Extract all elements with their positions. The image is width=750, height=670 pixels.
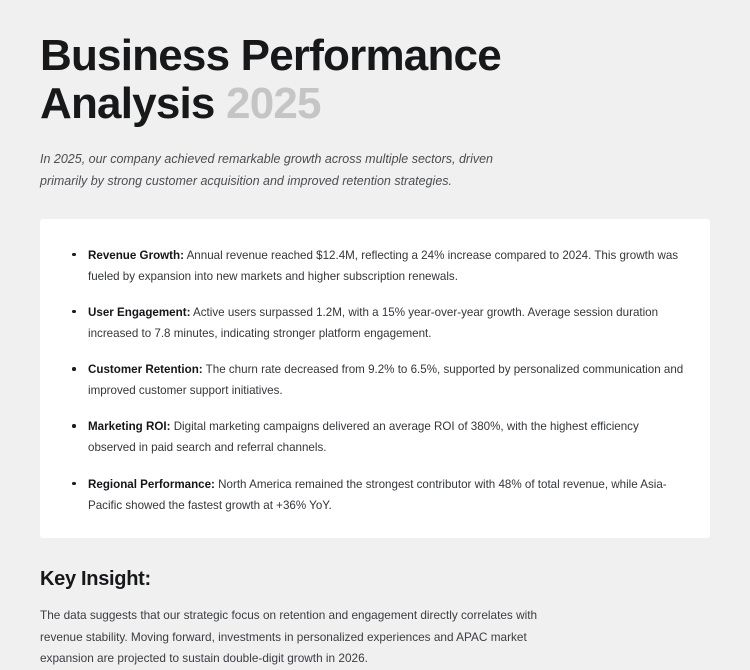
key-insight-text: The data suggests that our strategic foc… (40, 605, 540, 670)
list-item: Marketing ROI: Digital marketing campaig… (66, 416, 684, 458)
bullet-dot-icon (72, 310, 76, 314)
key-insight-block: Key Insight: The data suggests that our … (40, 568, 710, 670)
list-item: User Engagement: Active users surpassed … (66, 302, 684, 344)
title-block: Business Performance Analysis 2025 (40, 0, 710, 127)
list-item-lead: User Engagement: (88, 306, 190, 319)
list-item-lead: Regional Performance: (88, 478, 215, 491)
list-item: Regional Performance: North America rema… (66, 474, 684, 516)
list-item-body: Digital marketing campaigns delivered an… (88, 420, 639, 454)
page-title: Business Performance Analysis 2025 (40, 32, 600, 127)
list-item: Revenue Growth: Annual revenue reached $… (66, 245, 684, 287)
intro-paragraph: In 2025, our company achieved remarkable… (40, 149, 540, 193)
list-item-lead: Customer Retention: (88, 363, 203, 376)
list-item: Customer Retention: The churn rate decre… (66, 359, 684, 401)
list-item-lead: Marketing ROI: (88, 420, 170, 433)
key-insight-heading: Key Insight: (40, 568, 710, 591)
page-title-line-one: Business Performance (40, 31, 501, 80)
page-title-line-two: Analysis (40, 79, 215, 128)
highlights-card: Revenue Growth: Annual revenue reached $… (40, 219, 710, 538)
highlights-list: Revenue Growth: Annual revenue reached $… (66, 245, 684, 516)
bullet-dot-icon (72, 253, 76, 257)
bullet-dot-icon (72, 367, 76, 371)
bullet-dot-icon (72, 424, 76, 428)
bullet-dot-icon (72, 482, 76, 486)
page-title-year: 2025 (226, 79, 321, 128)
report-page: Business Performance Analysis 2025 In 20… (0, 0, 750, 630)
list-item-lead: Revenue Growth: (88, 249, 184, 262)
